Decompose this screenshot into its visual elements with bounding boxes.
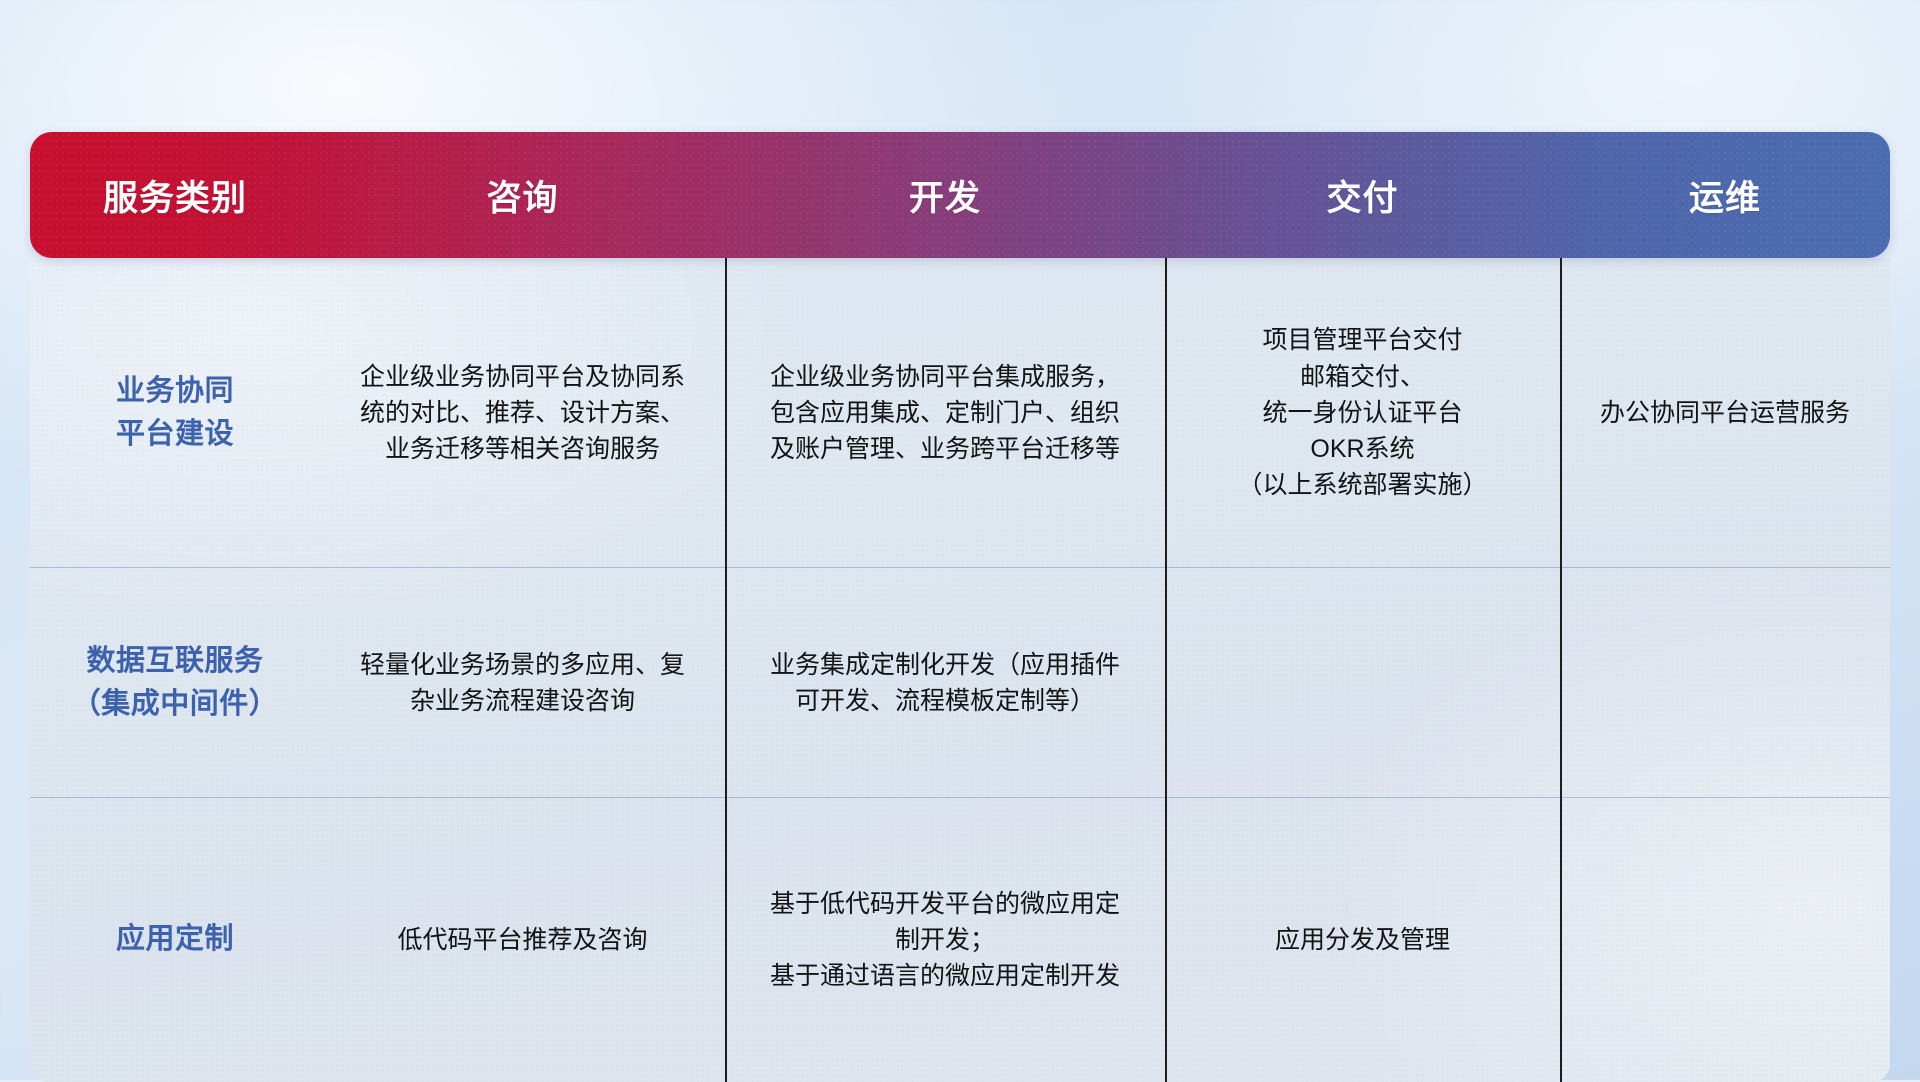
- column-header-operations-label: 运维: [1689, 170, 1761, 221]
- table-row: 业务协同 平台建设 企业级业务协同平台及协同系 统的对比、推荐、设计方案、 业务…: [30, 258, 1890, 568]
- column-header-category-label: 服务类别: [103, 170, 247, 221]
- column-divider-development-delivery: [1165, 258, 1167, 1082]
- table-row: 数据互联服务 （集成中间件） 轻量化业务场景的多应用、复 杂业务流程建设咨询 业…: [30, 568, 1890, 798]
- slide-page: 服务类别 咨询 开发 交付 运维 业务协同 平台建设 企业级业务协同平台及协同系…: [0, 0, 1920, 1080]
- column-divider-consulting-development: [725, 258, 727, 1082]
- cell-operations: [1560, 568, 1890, 798]
- table-header-row: 服务类别 咨询 开发 交付 运维: [30, 132, 1890, 258]
- column-header-delivery-label: 交付: [1326, 170, 1398, 221]
- column-divider-delivery-operations: [1560, 258, 1562, 1082]
- column-header-development: 开发: [725, 132, 1165, 258]
- table-row: 应用定制 低代码平台推荐及咨询 基于低代码开发平台的微应用定 制开发； 基于通过…: [30, 798, 1890, 1082]
- column-header-category: 服务类别: [30, 132, 320, 258]
- cell-delivery: [1165, 568, 1560, 798]
- column-header-delivery: 交付: [1165, 132, 1560, 258]
- service-matrix-table: 服务类别 咨询 开发 交付 运维 业务协同 平台建设 企业级业务协同平台及协同系…: [30, 132, 1890, 1082]
- column-header-operations: 运维: [1560, 132, 1890, 258]
- column-header-consulting: 咨询: [320, 132, 725, 258]
- cell-consulting: 轻量化业务场景的多应用、复 杂业务流程建设咨询: [320, 568, 725, 798]
- column-header-consulting-label: 咨询: [486, 170, 558, 221]
- row-category-label: 应用定制: [30, 798, 320, 1082]
- cell-delivery: 项目管理平台交付 邮箱交付、 统一身份认证平台 OKR系统 （以上系统部署实施）: [1165, 258, 1560, 568]
- cell-operations: [1560, 798, 1890, 1082]
- cell-development: 业务集成定制化开发（应用插件 可开发、流程模板定制等）: [725, 568, 1165, 798]
- table-body: 业务协同 平台建设 企业级业务协同平台及协同系 统的对比、推荐、设计方案、 业务…: [30, 258, 1890, 1082]
- cell-development: 基于低代码开发平台的微应用定 制开发； 基于通过语言的微应用定制开发: [725, 798, 1165, 1082]
- cell-development: 企业级业务协同平台集成服务， 包含应用集成、定制门户、组织 及账户管理、业务跨平…: [725, 258, 1165, 568]
- column-header-development-label: 开发: [909, 170, 981, 221]
- row-category-label: 数据互联服务 （集成中间件）: [30, 568, 320, 798]
- cell-operations: 办公协同平台运营服务: [1560, 258, 1890, 568]
- cell-delivery: 应用分发及管理: [1165, 798, 1560, 1082]
- cell-consulting: 低代码平台推荐及咨询: [320, 798, 725, 1082]
- cell-consulting: 企业级业务协同平台及协同系 统的对比、推荐、设计方案、 业务迁移等相关咨询服务: [320, 258, 725, 568]
- row-category-label: 业务协同 平台建设: [30, 258, 320, 568]
